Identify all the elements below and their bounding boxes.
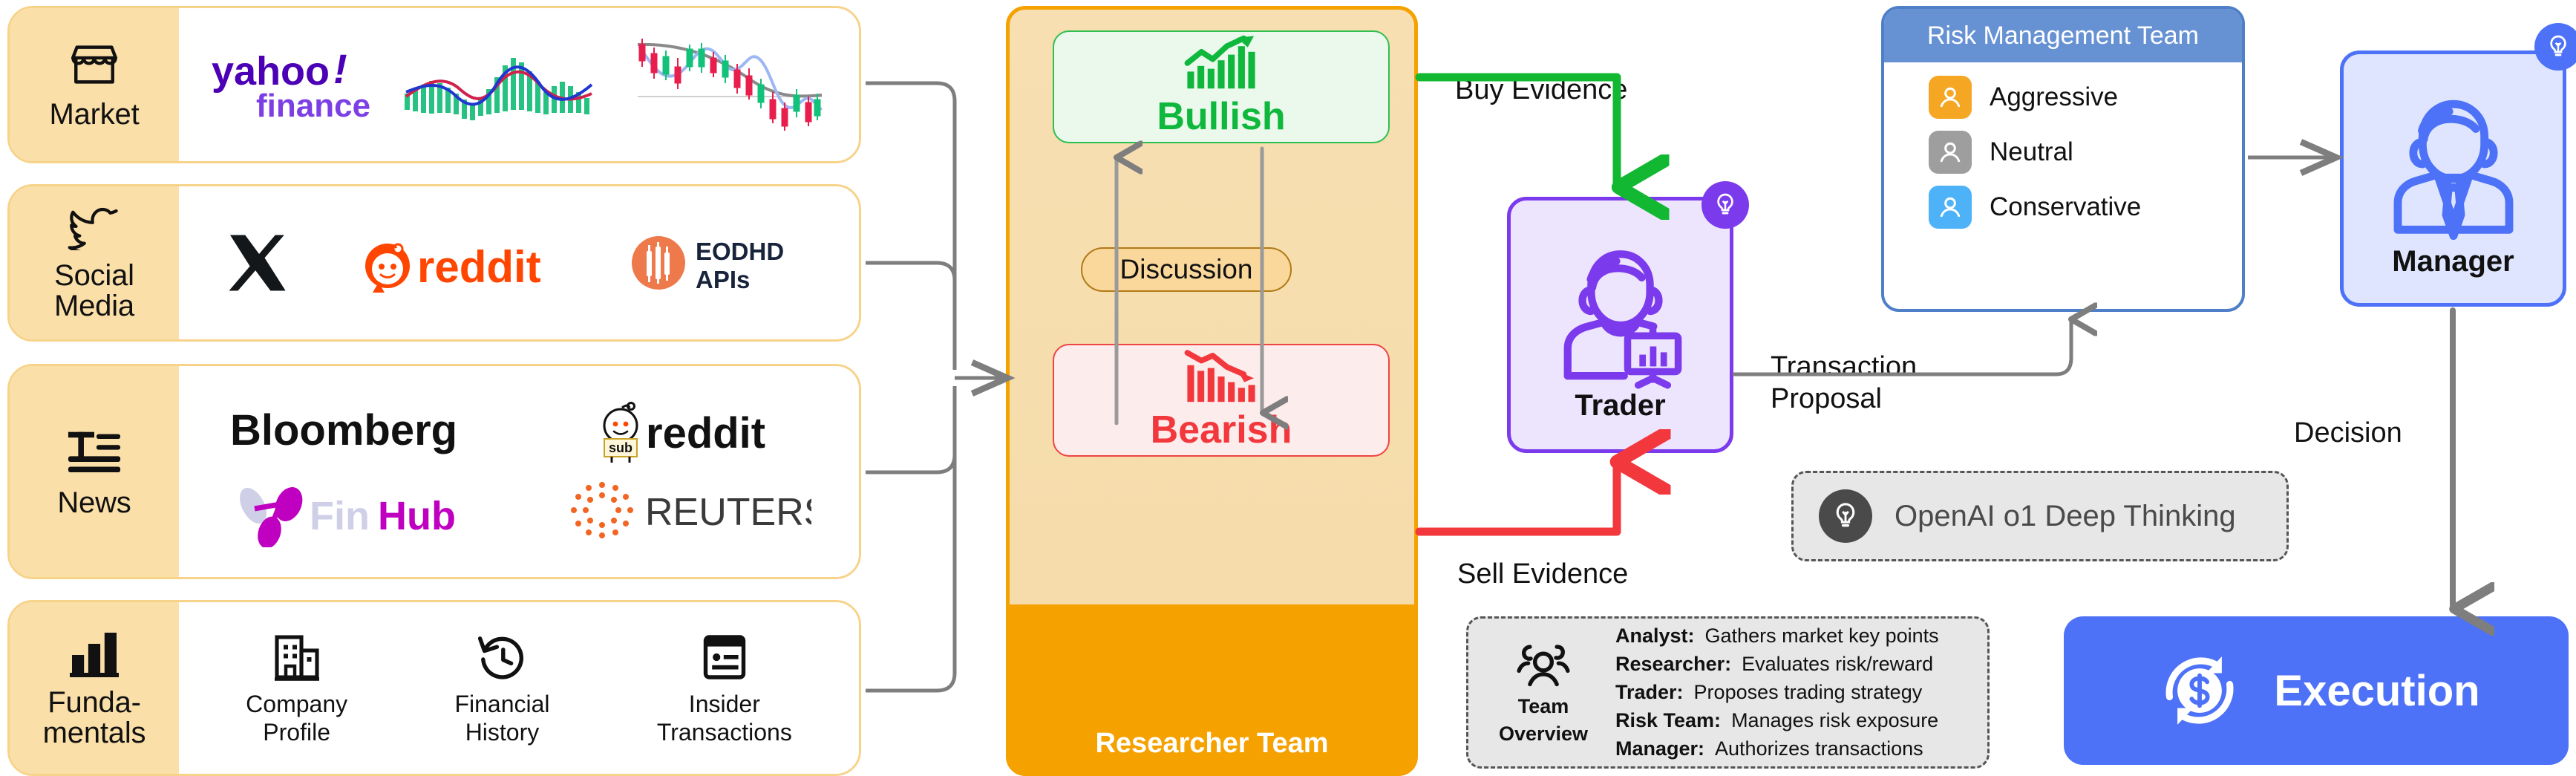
risk-team-member-neutral[interactable]: Neutral [1929, 131, 2242, 174]
clock-rewind-icon [475, 630, 529, 685]
team-overview-title: Team Overview [1488, 640, 1599, 744]
row-tag-fundamentals: Funda- mentals [10, 602, 179, 774]
svg-text:yahoo: yahoo [212, 49, 330, 94]
role-desc: Evaluates risk/reward [1731, 651, 1933, 677]
person-icon-aggressive [1929, 76, 1972, 119]
manager-avatar-icon [2379, 83, 2528, 245]
role-name: Researcher: [1615, 651, 1731, 677]
subreddit-logo: sub reddit [585, 396, 808, 464]
connector-social-media [866, 263, 955, 370]
team-overview-row: Manager: Authorizes transactions [1615, 736, 1939, 762]
lightbulb-icon [1710, 190, 1740, 220]
fundamental-label-financial-history: Financial History [454, 691, 549, 747]
team-overview-rows: Analyst: Gathers market key points Resea… [1615, 623, 1939, 762]
trader-card[interactable]: Trader [1507, 197, 1733, 453]
team-overview-title-line1: Team [1518, 695, 1569, 717]
risk-team-title-text: Risk Management Team [1927, 22, 2199, 50]
edge-label-decision: Decision [2294, 417, 2402, 449]
role-name: Analyst: [1615, 623, 1695, 649]
team-overview-row: Risk Team: Manages risk exposure [1615, 708, 1939, 734]
volume-chart-thumb [400, 40, 601, 129]
yahoo-finance-logo: yahoo ! finance [207, 46, 370, 123]
svg-text:Bloomberg: Bloomberg [230, 406, 457, 454]
risk-team-member-conservative[interactable]: Conservative [1929, 186, 2242, 229]
storefront-icon [67, 40, 122, 89]
reuters-logo: REUTERS [566, 476, 811, 547]
row-tag-social-media: Social Media [10, 186, 179, 339]
fundamental-item-financial-history[interactable]: Financial History [454, 630, 549, 747]
edge-label-sell-evidence: Sell Evidence [1457, 558, 1628, 590]
connector-fundamentals [866, 386, 955, 691]
office-building-icon [270, 630, 324, 685]
id-card-icon [698, 630, 751, 685]
data-source-row-social-media[interactable]: Social Media reddit [7, 184, 861, 342]
discussion-pill[interactable]: Discussion [1081, 247, 1292, 292]
bearish-card[interactable]: Bearish [1053, 344, 1390, 457]
svg-text:REUTERS: REUTERS [645, 491, 811, 534]
x-logo [223, 229, 290, 296]
fundamental-item-insider-transactions[interactable]: Insider Transactions [657, 630, 792, 747]
twitter-bird-icon [67, 204, 122, 250]
team-overview-title-line2: Overview [1499, 723, 1588, 745]
fundamental-label-company-profile: Company Profile [246, 691, 347, 747]
svg-text:APIs: APIs [696, 266, 750, 293]
data-source-row-fundamentals[interactable]: Funda- mentals Company Profile Financial… [7, 600, 861, 776]
edge-sell-evidence [1419, 462, 1617, 532]
group-people-icon [1516, 640, 1571, 691]
role-desc: Proposes trading strategy [1684, 679, 1923, 705]
dollar-refresh-icon [2152, 643, 2247, 738]
trending-down-chart-icon [1184, 348, 1258, 405]
bullish-label: Bullish [1157, 94, 1285, 139]
row-label-social-media: Social Media [54, 261, 134, 322]
researcher-team-panel[interactable]: Bullish Discussion Bearish Researcher Te… [1006, 6, 1418, 776]
row-label-news: News [57, 488, 131, 518]
lightbulb-icon [2543, 32, 2573, 62]
lightbulb-icon [1819, 489, 1872, 543]
person-icon-neutral [1929, 131, 1972, 174]
data-source-row-news[interactable]: News Bloomberg sub [7, 364, 861, 579]
finnhub-logo: Fin Hub [226, 476, 471, 547]
openai-deep-thinking-badge[interactable]: OpenAI o1 Deep Thinking [1791, 471, 2289, 561]
svg-text:EODHD: EODHD [696, 238, 784, 265]
row-body-market: yahoo ! finance [179, 8, 859, 161]
datasource-connectors [866, 83, 1004, 691]
eodhd-apis-logo: EODHD APIs [629, 227, 814, 299]
svg-text:reddit: reddit [646, 409, 765, 457]
team-overview-row: Analyst: Gathers market key points [1615, 623, 1939, 649]
connector-market [866, 83, 955, 370]
risk-team-label-conservative: Conservative [1990, 192, 2141, 222]
data-source-row-market[interactable]: Market yahoo ! finance [7, 6, 861, 163]
row-body-fundamentals: Company Profile Financial History Inside… [179, 602, 859, 774]
connector-news [866, 386, 955, 472]
role-desc: Gathers market key points [1695, 623, 1939, 649]
fundamental-item-company-profile[interactable]: Company Profile [246, 630, 347, 747]
trader-label: Trader [1575, 389, 1665, 423]
row-tag-market: Market [10, 8, 179, 161]
edge-label-transaction-proposal: Transaction Proposal [1771, 351, 1917, 414]
manager-card[interactable]: Manager [2340, 50, 2566, 307]
trader-avatar-icon [1550, 233, 1691, 389]
fundamental-label-insider-transactions: Insider Transactions [657, 691, 792, 747]
risk-team-member-aggressive[interactable]: Aggressive [1929, 76, 2242, 119]
researcher-team-label: Researcher Team [1095, 728, 1328, 760]
bearish-label: Bearish [1151, 408, 1292, 452]
role-name: Manager: [1615, 736, 1704, 762]
team-overview-row: Trader: Proposes trading strategy [1615, 679, 1939, 705]
svg-text:!: ! [333, 46, 347, 92]
svg-text:sub: sub [609, 440, 632, 455]
risk-team-member-list: Aggressive Neutral Conservative [1884, 62, 2242, 236]
row-body-news: Bloomberg sub reddit [179, 366, 859, 577]
candlestick-chart-thumb [630, 25, 831, 144]
svg-text:finance: finance [256, 88, 370, 123]
risk-management-team-panel[interactable]: Risk Management Team Aggressive Neutral … [1881, 6, 2245, 312]
openai-badge-label: OpenAI o1 Deep Thinking [1895, 500, 2236, 533]
row-label-fundamentals: Funda- mentals [43, 688, 146, 749]
svg-text:reddit: reddit [417, 242, 541, 292]
team-overview-row: Researcher: Evaluates risk/reward [1615, 651, 1939, 677]
discussion-label: Discussion [1120, 254, 1253, 285]
reddit-logo: reddit [352, 229, 567, 297]
execution-label: Execution [2274, 666, 2479, 716]
risk-team-label-neutral: Neutral [1990, 137, 2073, 167]
bullish-card[interactable]: Bullish [1053, 30, 1390, 143]
bar-chart-icon [67, 628, 122, 677]
manager-lightbulb-badge [2534, 23, 2576, 71]
role-desc: Manages risk exposure [1721, 708, 1938, 734]
manager-label: Manager [2392, 245, 2514, 278]
row-tag-news: News [10, 366, 179, 577]
risk-team-label-aggressive: Aggressive [1990, 82, 2118, 112]
role-desc: Authorizes transactions [1704, 736, 1923, 762]
person-icon-conservative [1929, 186, 1972, 229]
execution-card[interactable]: Execution [2064, 616, 2569, 765]
edge-label-buy-evidence: Buy Evidence [1455, 74, 1627, 106]
role-name: Risk Team: [1615, 708, 1721, 734]
trending-up-chart-icon [1184, 35, 1258, 91]
researcher-team-footer: Researcher Team [1010, 714, 1414, 772]
row-label-market: Market [49, 100, 139, 130]
news-article-icon [66, 426, 122, 477]
svg-text:Fin: Fin [310, 494, 370, 538]
trader-lightbulb-badge [1701, 181, 1749, 229]
risk-team-title: Risk Management Team [1884, 9, 2242, 62]
role-name: Trader: [1615, 679, 1684, 705]
row-body-social-media: reddit EODHD APIs [179, 186, 859, 339]
team-overview-legend: Team Overview Analyst: Gathers market ke… [1466, 616, 1990, 769]
svg-text:Hub: Hub [378, 494, 456, 538]
bloomberg-logo: Bloomberg [230, 405, 483, 455]
